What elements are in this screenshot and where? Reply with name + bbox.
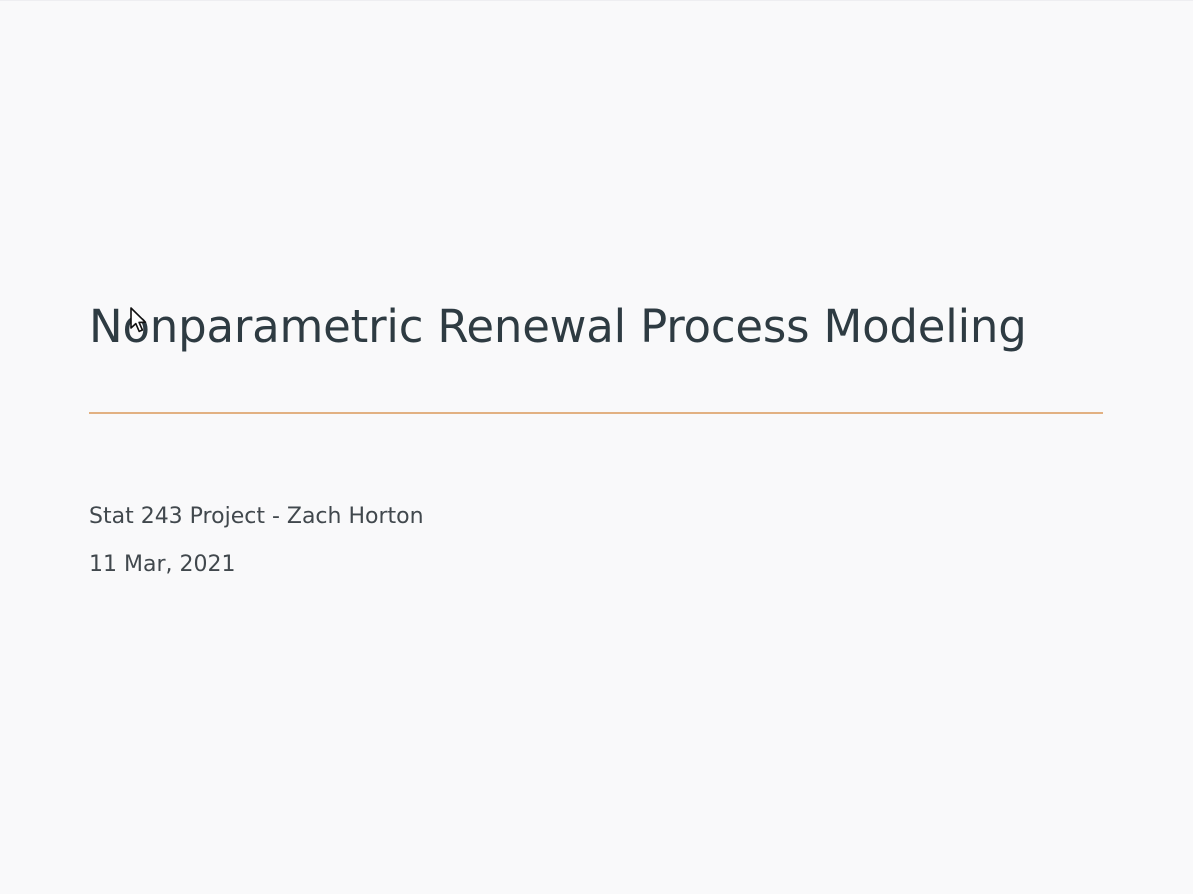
title-block: Nonparametric Renewal Process Modeling bbox=[89, 300, 1103, 353]
subtitle-date: 11 Mar, 2021 bbox=[89, 541, 889, 589]
subtitle-block: Stat 243 Project - Zach Horton 11 Mar, 2… bbox=[89, 493, 889, 589]
subtitle-course-author: Stat 243 Project - Zach Horton bbox=[89, 493, 889, 541]
presentation-slide: Nonparametric Renewal Process Modeling S… bbox=[0, 0, 1193, 894]
page-title: Nonparametric Renewal Process Modeling bbox=[89, 300, 1103, 353]
title-divider-rule bbox=[89, 412, 1103, 414]
